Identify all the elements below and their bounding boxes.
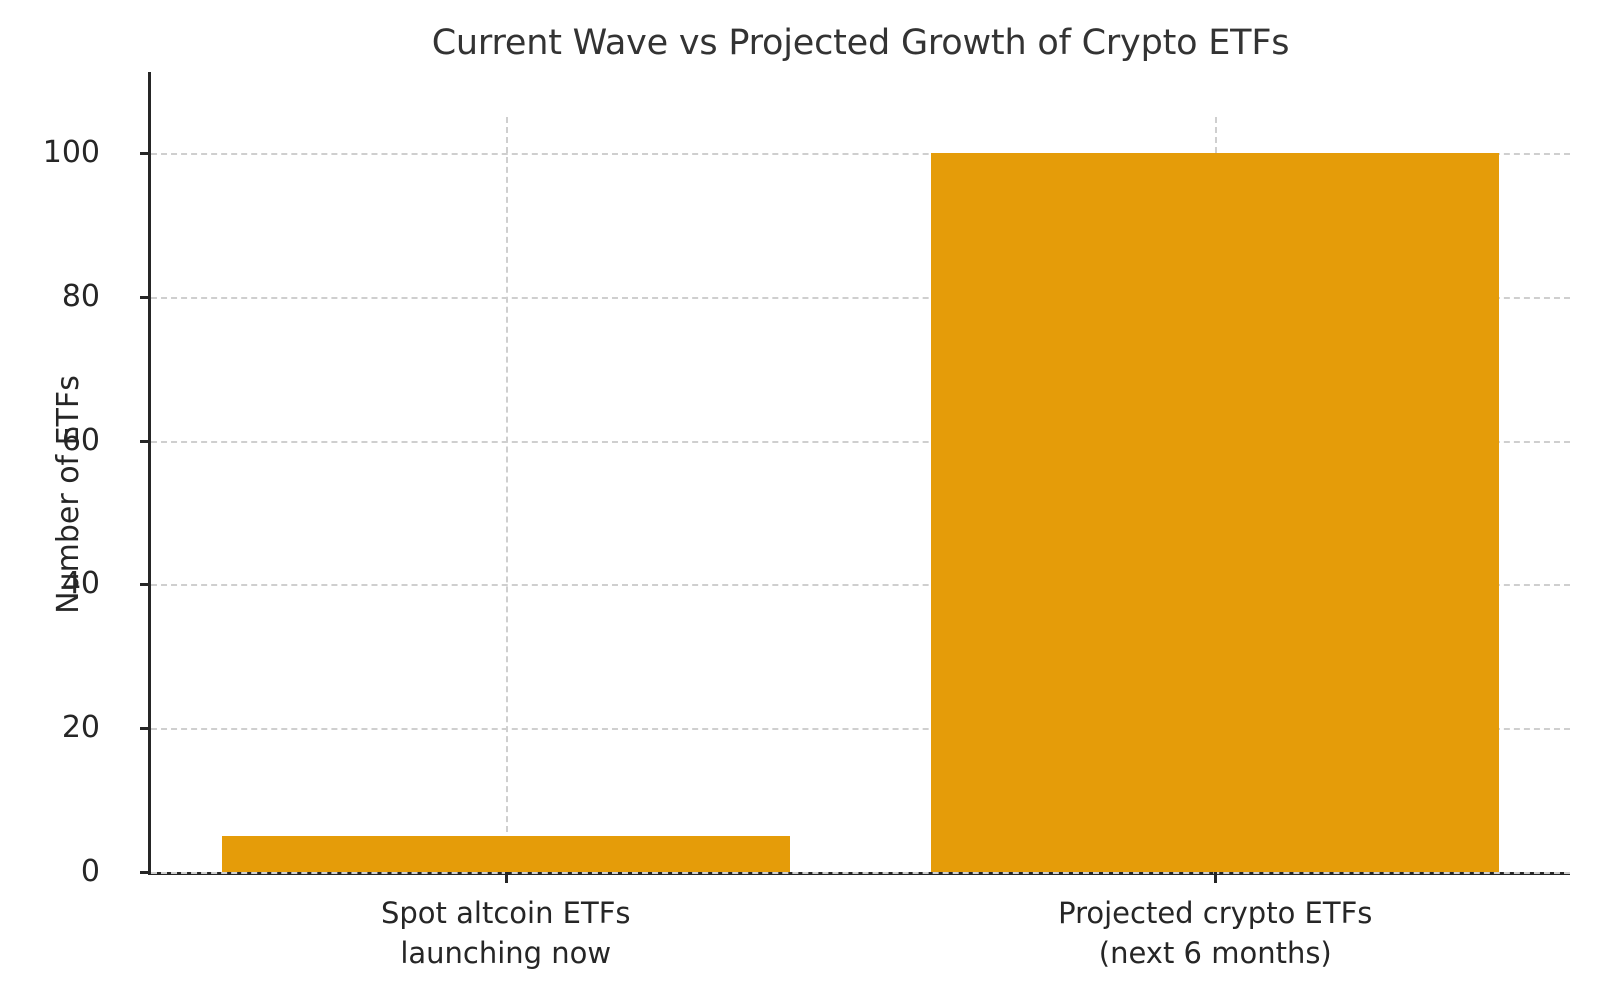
y-tick-mark bbox=[140, 152, 151, 155]
y-tick-mark bbox=[140, 871, 151, 874]
chart-title: Current Wave vs Projected Growth of Cryp… bbox=[151, 22, 1570, 64]
x-gridline bbox=[506, 117, 508, 872]
bar[interactable] bbox=[931, 153, 1499, 872]
x-tick-label: Projected crypto ETFs (next 6 months) bbox=[861, 893, 1571, 973]
x-tick-mark bbox=[505, 872, 508, 883]
x-tick-label: Spot altcoin ETFs launching now bbox=[151, 893, 861, 973]
y-tick-label: 60 bbox=[62, 426, 100, 456]
x-tick-mark bbox=[1214, 872, 1217, 883]
bar[interactable] bbox=[222, 836, 790, 872]
y-tick-label: 100 bbox=[43, 138, 100, 168]
y-tick-mark bbox=[140, 296, 151, 299]
plot-area: 020406080100Spot altcoin ETFs launching … bbox=[151, 117, 1570, 872]
y-gridline bbox=[151, 872, 1570, 874]
y-tick-mark bbox=[140, 440, 151, 443]
chart-figure: Current Wave vs Projected Growth of Cryp… bbox=[0, 0, 1600, 1000]
y-tick-label: 80 bbox=[62, 282, 100, 312]
y-tick-label: 40 bbox=[62, 569, 100, 599]
y-tick-mark bbox=[140, 583, 151, 586]
y-tick-label: 0 bbox=[81, 857, 100, 887]
y-tick-mark bbox=[140, 727, 151, 730]
y-tick-label: 20 bbox=[62, 713, 100, 743]
y-axis-label: Number of ETFs bbox=[46, 117, 92, 872]
